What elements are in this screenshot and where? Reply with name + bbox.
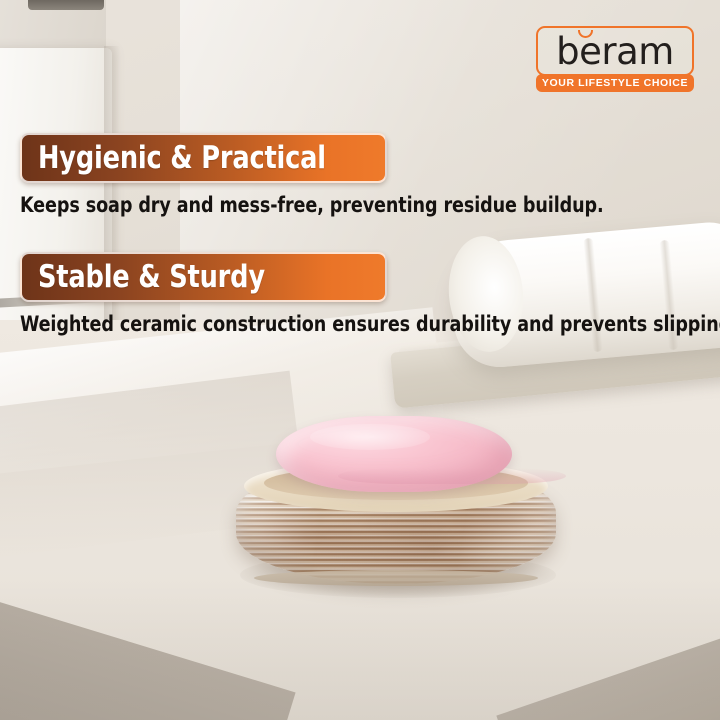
feature-heading-text: Stable & Sturdy	[38, 262, 265, 293]
feature-description-text: Keeps soap dry and mess-free, preventing…	[20, 194, 604, 217]
soap-seam	[338, 468, 566, 484]
bottom-vignette	[0, 580, 720, 720]
feature-description-text: Weighted ceramic construction ensures du…	[20, 313, 720, 336]
brand-logo: beram YOUR LIFESTYLE CHOICE	[536, 26, 694, 92]
dish-base-shadow	[254, 570, 538, 586]
dark-fixture-top	[28, 0, 104, 10]
product-photo	[218, 412, 570, 600]
feature-heading-banner: Hygienic & Practical	[20, 133, 387, 183]
feature-block-hygienic-practical: Hygienic & Practical Keeps soap dry and …	[20, 133, 648, 217]
feature-heading-banner: Stable & Sturdy	[20, 252, 387, 302]
product-feature-card: beram YOUR LIFESTYLE CHOICE Hygienic & P…	[0, 0, 720, 720]
logo-outline-box: beram	[536, 26, 694, 76]
brand-tagline: YOUR LIFESTYLE CHOICE	[536, 74, 694, 92]
logo-wordmark: beram	[556, 32, 674, 72]
feature-heading-text: Hygienic & Practical	[38, 143, 326, 174]
feature-block-stable-sturdy: Stable & Sturdy Weighted ceramic constru…	[20, 252, 720, 336]
soap-highlight	[310, 424, 430, 450]
